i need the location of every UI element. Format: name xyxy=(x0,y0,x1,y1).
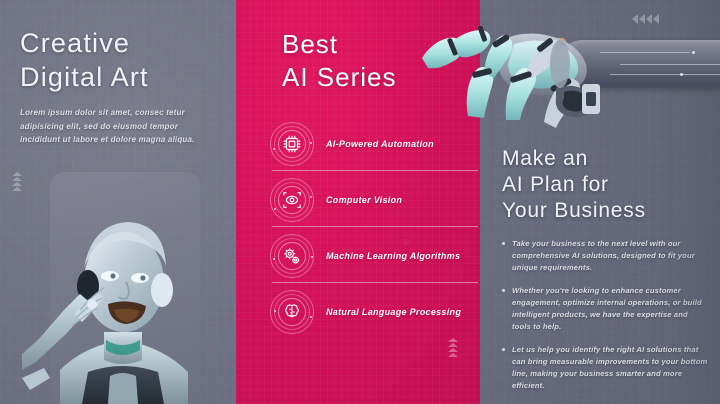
bullet-marker-icon xyxy=(502,289,505,292)
ai-chip-icon xyxy=(270,122,314,166)
pink-title-line1: Best xyxy=(282,28,397,61)
pink-title-line2: AI Series xyxy=(282,61,397,94)
right-title: Make an AI Plan for Your Business xyxy=(502,146,646,224)
right-title-line2: AI Plan for xyxy=(502,172,646,198)
right-panel: Make an AI Plan for Your Business Take y… xyxy=(480,0,720,404)
left-title: Creative Digital Art xyxy=(20,26,149,94)
feature-label: Natural Language Processing xyxy=(326,306,461,319)
feature-item-ai-powered-automation[interactable]: AI-Powered Automation xyxy=(270,116,470,172)
bullet-list: Take your business to the next level wit… xyxy=(502,238,708,403)
chevron-up-stack-icon xyxy=(12,172,22,191)
feature-item-natural-language-processing[interactable]: Natural Language Processing xyxy=(270,284,470,340)
bullet-text: Let us help you identify the right AI so… xyxy=(512,344,708,392)
bullet-item: Whether you're looking to enhance custom… xyxy=(502,285,708,333)
right-title-line1: Make an xyxy=(502,146,646,172)
pink-panel: Best AI Series AI-Power xyxy=(236,0,480,404)
pink-title: Best AI Series xyxy=(282,28,397,94)
bullet-marker-icon xyxy=(502,348,505,351)
gears-icon xyxy=(270,234,314,278)
bullet-item: Take your business to the next level wit… xyxy=(502,238,708,274)
chevron-up-stack-icon xyxy=(448,338,458,357)
feature-list: AI-Powered Automation Computer Vi xyxy=(270,116,470,340)
left-title-line2: Digital Art xyxy=(20,60,149,94)
bullet-item: Let us help you identify the right AI so… xyxy=(502,344,708,392)
chevron-left-row-icon xyxy=(632,14,659,24)
feature-label: Computer Vision xyxy=(326,194,402,207)
feature-label: AI-Powered Automation xyxy=(326,138,434,151)
bullet-marker-icon xyxy=(502,242,505,245)
slide-canvas: Creative Digital Art Lorem ipsum dolor s… xyxy=(0,0,720,404)
right-title-line3: Your Business xyxy=(502,198,646,224)
bullet-text: Take your business to the next level wit… xyxy=(512,238,708,274)
brain-icon xyxy=(270,290,314,334)
feature-item-machine-learning-algorithms[interactable]: Machine Learning Algorithms xyxy=(270,228,470,284)
feature-label: Machine Learning Algorithms xyxy=(326,250,460,263)
left-panel: Creative Digital Art Lorem ipsum dolor s… xyxy=(0,0,236,404)
left-body-text: Lorem ipsum dolor sit amet, consec tetur… xyxy=(20,106,216,147)
feature-item-computer-vision[interactable]: Computer Vision xyxy=(270,172,470,228)
camera-vision-icon xyxy=(270,178,314,222)
left-title-line1: Creative xyxy=(20,26,149,60)
bullet-text: Whether you're looking to enhance custom… xyxy=(512,285,708,333)
